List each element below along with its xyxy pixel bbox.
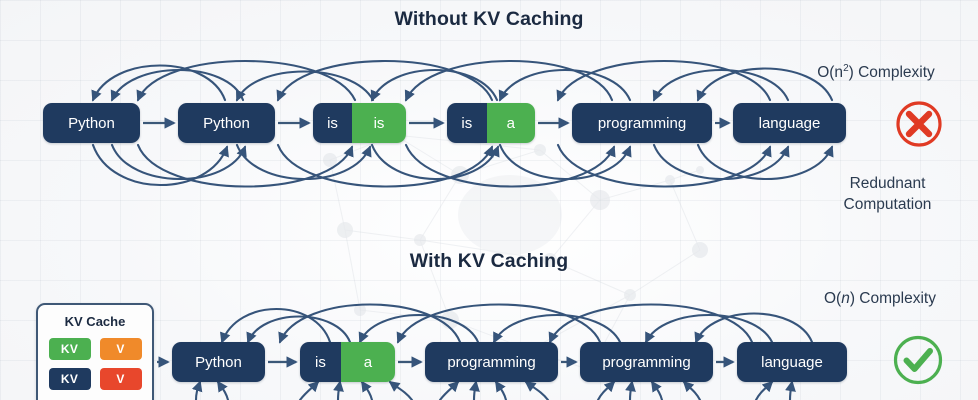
token-python-1-top[interactable]: Python	[43, 103, 140, 143]
token-programming-1-bottom[interactable]: programming	[425, 342, 558, 382]
footnote-line-1: Redudnant	[800, 173, 975, 194]
token-label-right: is	[352, 103, 406, 143]
token-is-a-top[interactable]: is a	[447, 103, 535, 143]
token-python-2-top[interactable]: Python	[178, 103, 275, 143]
token-label-right: a	[341, 342, 395, 382]
complexity-prefix: O(	[824, 290, 841, 307]
complexity-label-with: O(n) Complexity	[790, 288, 970, 309]
check-circle-icon	[892, 334, 944, 386]
title-text-without: Without KV Caching	[394, 8, 583, 31]
complexity-prefix: O(n	[817, 64, 843, 81]
token-label-left: is	[300, 342, 341, 382]
kv-cache-title: KV Cache	[38, 314, 152, 329]
token-language-top[interactable]: language	[733, 103, 846, 143]
token-label: Python	[178, 103, 275, 143]
kv-cache-row-2: KV V	[38, 368, 152, 390]
kv-chip-key: KV	[49, 368, 91, 390]
section-title-without: Without KV Caching	[0, 8, 978, 31]
token-label: language	[737, 342, 847, 382]
footnote-line-2: Computation	[800, 194, 975, 215]
kv-chip-key: KV	[49, 338, 91, 360]
token-is-a-bottom[interactable]: is a	[300, 342, 395, 382]
cross-circle-icon	[895, 100, 943, 148]
token-language-bottom[interactable]: language	[737, 342, 847, 382]
token-label: programming	[425, 342, 558, 382]
token-label-left: is	[313, 103, 352, 143]
diagram-canvas: Without KV Caching Python Python is is i…	[0, 0, 978, 400]
token-label-right: a	[487, 103, 535, 143]
token-label: Python	[172, 342, 265, 382]
kv-cache-panel[interactable]: KV Cache KV V KV V	[36, 303, 154, 400]
complexity-variable: n	[841, 290, 850, 307]
token-label-left: is	[447, 103, 487, 143]
token-programming-2-bottom[interactable]: programming	[580, 342, 713, 382]
token-python-bottom[interactable]: Python	[172, 342, 265, 382]
kv-cache-row-1: KV V	[38, 338, 152, 360]
token-label: programming	[580, 342, 713, 382]
complexity-label-without: O(n2) Complexity	[778, 58, 974, 83]
token-label: language	[733, 103, 846, 143]
title-text-with: With KV Caching	[410, 250, 568, 273]
token-label: Python	[43, 103, 140, 143]
token-is-is-top[interactable]: is is	[313, 103, 406, 143]
kv-chip-value: V	[100, 338, 142, 360]
token-programming-top[interactable]: programming	[572, 103, 712, 143]
complexity-suffix: ) Complexity	[850, 290, 936, 307]
kv-chip-value: V	[100, 368, 142, 390]
footnote-without: Redudnant Computation	[800, 173, 975, 215]
section-title-with: With KV Caching	[0, 250, 978, 273]
complexity-suffix: ) Complexity	[849, 64, 935, 81]
token-label: programming	[572, 103, 712, 143]
